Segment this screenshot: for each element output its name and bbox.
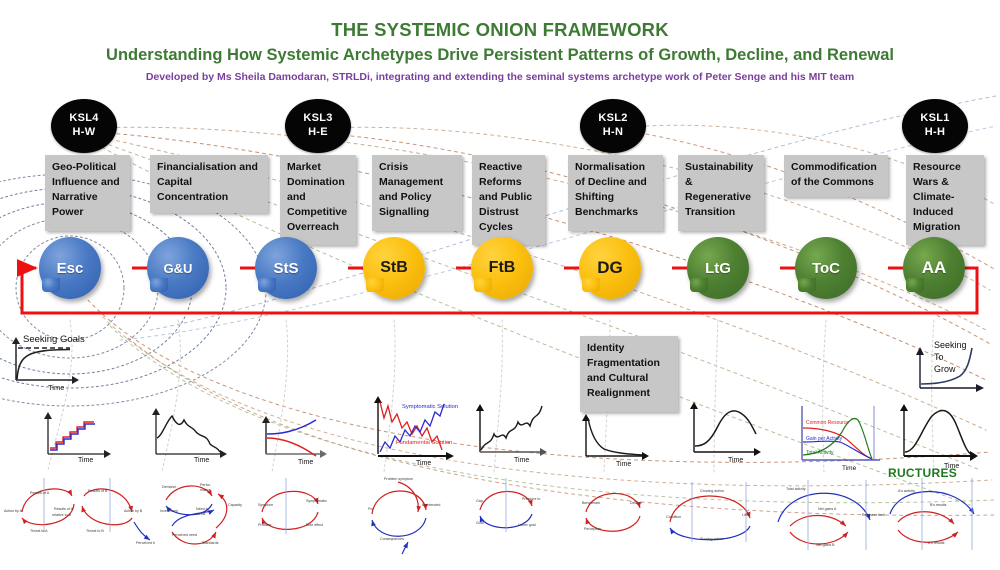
svg-text:Perceived b: Perceived b (136, 541, 155, 545)
svg-text:Time: Time (194, 457, 209, 464)
archetype-caption-aa: Resource Wars & Climate-Induced Migratio… (906, 155, 984, 245)
node-label: ToC (795, 237, 857, 299)
archetype-caption-ftb: Reactive Reforms and Public Distrust Cyc… (472, 155, 545, 245)
svg-text:Condition: Condition (666, 515, 681, 519)
cld-escalation: Results of AAction by A Results of Arela… (4, 478, 155, 545)
svg-text:A's results: A's results (928, 541, 945, 545)
archetype-node-toc[interactable]: ToC (795, 237, 857, 299)
archetype-node-sts[interactable]: StS (255, 237, 317, 299)
svg-text:Pressure to: Pressure to (522, 497, 540, 501)
thumb-fixes-that-backfire: Time (466, 400, 556, 466)
svg-text:Total activity: Total activity (786, 487, 806, 491)
node-label: LtG (687, 237, 749, 299)
svg-text:Time: Time (514, 457, 529, 464)
svg-text:Perception: Perception (584, 527, 601, 531)
node-label: StB (363, 237, 425, 299)
svg-text:Lower goal: Lower goal (518, 523, 536, 527)
svg-text:Problem symptom: Problem symptom (384, 477, 413, 481)
svg-text:Time: Time (78, 457, 93, 464)
svg-text:Time: Time (298, 459, 313, 466)
ksl-marker-ksl3[interactable]: KSL3 H-E (285, 99, 351, 153)
thumb-seeking-to-grow: Seeking To Grow (908, 336, 1000, 406)
svg-text:Grow: Grow (934, 364, 956, 374)
svg-text:Results of A: Results of A (54, 507, 74, 511)
thumb-drifting-goals: Time (572, 412, 656, 468)
archetype-node-esc[interactable]: Esc (39, 237, 101, 299)
svg-text:Side effect: Side effect (306, 523, 323, 527)
svg-text:Demand: Demand (162, 485, 176, 489)
svg-text:Time: Time (616, 461, 631, 468)
svg-text:Threat to A: Threat to A (30, 529, 48, 533)
svg-text:Time: Time (416, 460, 431, 467)
archetype-node-dg[interactable]: DG (579, 237, 641, 299)
ksl-sub: H-N (603, 126, 623, 140)
svg-text:Results of A: Results of A (30, 491, 50, 495)
ksl-code: KSL2 (598, 112, 627, 126)
node-label: StS (255, 237, 317, 299)
svg-text:Perfor-: Perfor- (200, 483, 212, 487)
svg-text:Perceived need: Perceived need (172, 533, 197, 537)
ksl-code: KSL3 (303, 112, 332, 126)
svg-text:Slowing action: Slowing action (700, 537, 723, 541)
cld-accidental-adversaries: A's activity B's results A's results (890, 478, 974, 550)
svg-text:B's results: B's results (930, 503, 947, 507)
svg-text:Time: Time (48, 383, 64, 392)
svg-text:Decline: Decline (630, 501, 642, 505)
svg-text:Action by A: Action by A (4, 509, 23, 513)
node-label: AA (903, 237, 965, 299)
svg-text:invest: invest (196, 512, 205, 516)
cld-shifting-the-burden: SymptomSymptomatic ProblemSide effect (258, 478, 327, 534)
svg-text:Results of B: Results of B (88, 489, 108, 493)
svg-text:Action by B: Action by B (124, 509, 143, 513)
svg-text:Seeking: Seeking (934, 340, 967, 350)
causal-loop-diagram-row: Results of AAction by A Results of Arela… (0, 470, 1000, 570)
thumb-limits-to-growth: Time (680, 400, 770, 466)
svg-text:mance: mance (200, 488, 211, 492)
archetype-node-aa[interactable]: AA (903, 237, 965, 299)
archetype-caption-stb: Crisis Management and Policy Signalling (372, 155, 462, 231)
svg-text:Threat to B: Threat to B (86, 529, 104, 533)
diagram-canvas: THE SYSTEMIC ONION FRAMEWORK Understandi… (0, 0, 1000, 563)
cld-tragedy-of-commons: Total activity Net gains A Net gains B R… (778, 480, 885, 550)
svg-text:Investment: Investment (160, 509, 178, 513)
svg-text:Growing action: Growing action (700, 489, 724, 493)
archetype-caption-ltg: Sustainability & Regenerative Transition (678, 155, 764, 231)
thumb-symptomatic-vs-fundamental: Symptomatic Solution Fundamental Solutio… (364, 392, 464, 470)
cld-fixes-that-backfire: Problem symptom FixUnintended Consequenc… (368, 477, 440, 554)
series-label-common-resource: Common Resource (806, 420, 849, 426)
series-label-fundamental: Fundamental Solution (396, 440, 452, 446)
svg-text:Net gains B: Net gains B (816, 543, 835, 547)
svg-text:Standards: Standards (202, 541, 219, 545)
cld-drifting-goals: GapPressure to GoalLower goal (476, 478, 540, 532)
svg-text:Time: Time (728, 457, 743, 464)
thumb-growth-underinvestment: Time (144, 404, 234, 466)
ksl-sub: H-E (308, 126, 328, 140)
svg-text:Symptomatic: Symptomatic (306, 499, 327, 503)
archetype-caption-gu: Financialisation and Capital Concentrati… (150, 155, 268, 213)
series-label-total-activity: Total Activity (806, 450, 834, 456)
archetype-node-ftb[interactable]: FtB (471, 237, 533, 299)
ksl-marker-ksl2[interactable]: KSL2 H-N (580, 99, 646, 153)
svg-text:relative to B: relative to B (52, 513, 72, 517)
svg-text:Fix: Fix (368, 507, 373, 511)
thumb-label: Seeking Goals (23, 334, 85, 345)
node-label: Esc (39, 237, 101, 299)
archetype-node-stb[interactable]: StB (363, 237, 425, 299)
svg-text:Problem: Problem (258, 523, 271, 527)
svg-text:A's activity: A's activity (898, 489, 915, 493)
svg-text:Gap: Gap (476, 499, 483, 503)
ksl-marker-ksl1[interactable]: KSL1 H-H (902, 99, 968, 153)
svg-text:Resource limit: Resource limit (862, 513, 885, 517)
node-label: FtB (471, 237, 533, 299)
cld-growth-underinvestment: DemandPerfor-mance InvestmentNeed toinve… (160, 483, 242, 545)
svg-text:To: To (934, 352, 944, 362)
thumb-accidental-adversaries: Time (890, 402, 990, 472)
svg-text:Unintended: Unintended (422, 503, 440, 507)
series-label-symptomatic: Symptomatic Solution (402, 404, 458, 410)
svg-text:Goal: Goal (476, 521, 484, 525)
identity-fragmentation-caption: Identity Fragmentation and Cultural Real… (580, 336, 678, 412)
svg-text:Consequences: Consequences (380, 537, 404, 541)
node-label: G&U (147, 237, 209, 299)
thumb-tragedy-of-commons: Common Resource Gain per Activity Total … (786, 402, 890, 474)
ksl-code: KSL4 (69, 112, 98, 126)
svg-text:Capacity: Capacity (228, 503, 242, 507)
thumb-escalation: Time (36, 408, 116, 466)
archetype-caption-dg: Normalisation of Decline and Shifting Be… (568, 155, 663, 231)
archetype-caption-esc: Geo-Political Influence and Narrative Po… (45, 155, 130, 231)
svg-text:Limit: Limit (742, 513, 750, 517)
thumb-shifting-the-burden: Time (254, 412, 334, 466)
cld-normalisation: BenchmarkDecline Perception (582, 493, 642, 531)
thumb-seeking-goals: Seeking Goals Time (6, 332, 86, 392)
series-label-gain-per-activity: Gain per Activity (806, 436, 843, 442)
svg-text:Benchmark: Benchmark (582, 501, 600, 505)
archetype-caption-toc: Commodification of the Commons (784, 155, 888, 197)
cld-limits-to-growth: Growing action ConditionLimit Slowing ac… (666, 482, 750, 542)
ksl-code: KSL1 (920, 112, 949, 126)
ksl-sub: H-W (73, 126, 96, 140)
svg-text:Net gains A: Net gains A (818, 507, 837, 511)
archetype-node-gu[interactable]: G&U (147, 237, 209, 299)
archetype-node-ltg[interactable]: LtG (687, 237, 749, 299)
svg-text:Need to: Need to (196, 507, 209, 511)
archetype-caption-sts: Market Domination and Competitive Overre… (280, 155, 356, 245)
ksl-sub: H-H (925, 126, 945, 140)
ksl-marker-ksl4[interactable]: KSL4 H-W (51, 99, 117, 153)
svg-text:Symptom: Symptom (258, 503, 273, 507)
node-label: DG (579, 237, 641, 299)
